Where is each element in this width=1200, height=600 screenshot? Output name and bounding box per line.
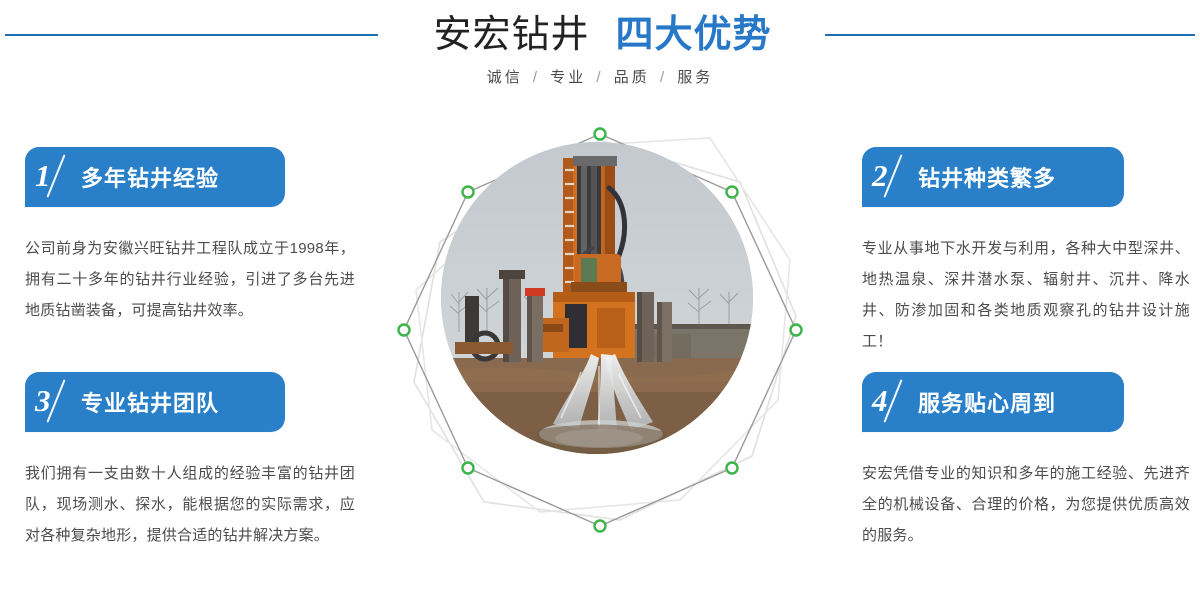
advantage-card-1-header[interactable]: 1 多年钻井经验 <box>25 147 285 207</box>
advantage-card-4-body: 安宏凭借专业的知识和多年的施工经验、先进齐全的机械设备、合理的价格，为您提供优质… <box>862 458 1190 551</box>
center-graphic <box>380 110 820 550</box>
advantage-card-4-header[interactable]: 4 服务贴心周到 <box>862 372 1124 432</box>
node-dot-top <box>595 129 606 140</box>
subtitle-separator-2: / <box>660 69 667 86</box>
subtitle-separator-1: / <box>596 69 603 86</box>
node-dot-bottom <box>595 521 606 532</box>
banner-header: 安宏钻井 四大优势 诚信 / 专业 / 品质 / 服务 <box>0 0 1200 110</box>
page-title: 安宏钻井 <box>433 16 589 54</box>
advantage-number-badge-2: 2 <box>862 147 918 207</box>
advantage-card-3-header[interactable]: 3 专业钻井团队 <box>25 372 285 432</box>
subtitle-item-0: 诚信 <box>487 69 523 86</box>
node-dot-left <box>399 325 410 336</box>
drilling-rig-illustration <box>441 142 753 454</box>
title-row: 安宏钻井 四大优势 <box>0 8 1200 62</box>
advantage-card-3-body: 我们拥有一支由数十人组成的经验丰富的钻井团队，现场测水、探水，能根据您的实际需求… <box>25 458 355 551</box>
advantage-card-4-title: 服务贴心周到 <box>918 386 1056 418</box>
advantage-card-2-body: 专业从事地下水开发与利用，各种大中型深井、地热温泉、深井潜水泵、辐射井、沉井、降… <box>862 233 1190 357</box>
advantage-card-4: 4 服务贴心周到 安宏凭借专业的知识和多年的施工经验、先进齐全的机械设备、合理的… <box>862 372 1192 551</box>
drilling-rig-photo <box>441 142 753 454</box>
node-dot-right <box>791 325 802 336</box>
advantage-number-badge-4: 4 <box>862 372 918 432</box>
advantage-card-2-title: 钻井种类繁多 <box>918 161 1056 193</box>
advantage-card-1-title: 多年钻井经验 <box>81 161 219 193</box>
subtitle-item-1: 专业 <box>550 69 586 86</box>
advantage-number-badge-3: 3 <box>25 372 81 432</box>
advantage-number-badge-1: 1 <box>25 147 81 207</box>
node-dot-bottom-right <box>727 463 738 474</box>
advantage-card-3-title: 专业钻井团队 <box>81 386 219 418</box>
subtitle-item-2: 品质 <box>614 69 650 86</box>
advantage-card-2: 2 钻井种类繁多 专业从事地下水开发与利用，各种大中型深井、地热温泉、深井潜水泵… <box>862 147 1192 357</box>
advantage-card-3: 3 专业钻井团队 我们拥有一支由数十人组成的经验丰富的钻井团队，现场测水、探水，… <box>25 372 355 551</box>
subtitle-item-3: 服务 <box>677 69 713 86</box>
node-dot-bottom-left <box>463 463 474 474</box>
divider-line-right <box>825 34 1195 36</box>
page-title-accent: 四大优势 <box>616 16 772 54</box>
subtitle-separator-0: / <box>533 69 540 86</box>
subtitle: 诚信 / 专业 / 品质 / 服务 <box>0 66 1200 87</box>
promo-banner: 安宏钻井 四大优势 诚信 / 专业 / 品质 / 服务 1 多年钻井经验 公司前… <box>0 0 1200 600</box>
advantage-card-1: 1 多年钻井经验 公司前身为安徽兴旺钻井工程队成立于1998年，拥有二十多年的钻… <box>25 147 355 326</box>
divider-line-left <box>5 34 378 36</box>
advantage-card-2-header[interactable]: 2 钻井种类繁多 <box>862 147 1124 207</box>
advantage-card-1-body: 公司前身为安徽兴旺钻井工程队成立于1998年，拥有二十多年的钻井行业经验，引进了… <box>25 233 355 326</box>
